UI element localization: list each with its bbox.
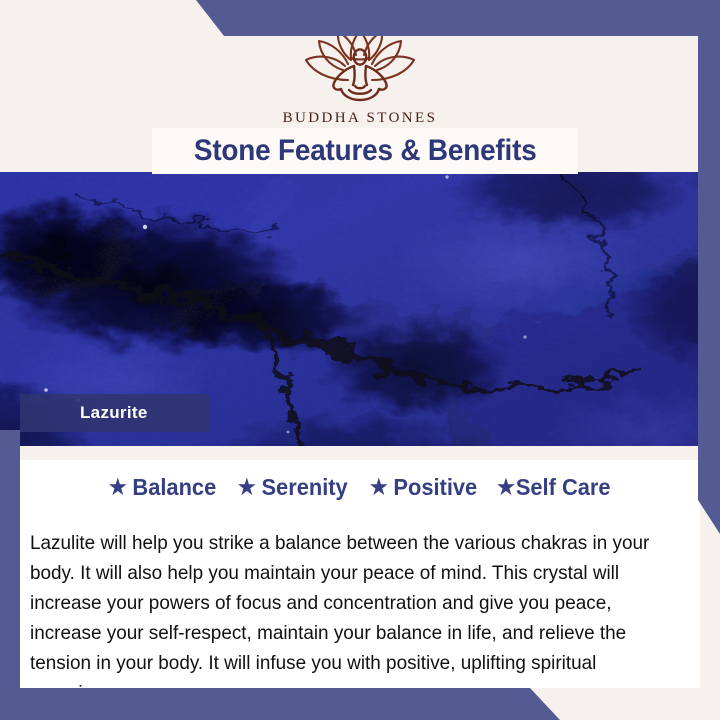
bottom-accent-band — [0, 688, 560, 720]
brand-logo: BUDDHA STONES — [0, 22, 720, 127]
page-title: Stone Features & Benefits — [194, 134, 537, 168]
keyword-balance: ★ Balance — [109, 474, 216, 501]
benefits-description: Lazulite will help you strike a balance … — [30, 528, 674, 708]
stone-info-card: BUDDHA STONES Stone Features & Benefits — [0, 0, 720, 720]
left-accent-strip — [0, 430, 20, 720]
brand-name: BUDDHA STONES — [0, 110, 720, 127]
star-icon: ★ — [370, 477, 388, 498]
star-icon: ★ — [238, 477, 256, 498]
stone-photo: Lazurite — [0, 172, 720, 446]
right-accent-strip — [698, 0, 720, 534]
star-icon: ★ — [109, 477, 127, 498]
panel-top-tint — [20, 446, 700, 460]
keyword-list: ★ Balance ★ Serenity ★ Positive ★ Self C… — [20, 474, 700, 501]
star-icon: ★ — [497, 477, 515, 498]
benefits-panel: ★ Balance ★ Serenity ★ Positive ★ Self C… — [20, 446, 700, 688]
stone-name-badge: Lazurite — [20, 394, 210, 432]
keyword-label: Serenity — [262, 474, 348, 501]
keyword-label: Balance — [133, 474, 217, 501]
keyword-self-care: ★ Self Care — [497, 474, 611, 501]
stone-name: Lazurite — [80, 403, 148, 423]
keyword-serenity: ★ Serenity — [238, 474, 348, 501]
keyword-label: Positive — [393, 474, 477, 501]
keyword-label: Self Care — [516, 474, 611, 501]
title-banner: Stone Features & Benefits — [152, 128, 578, 174]
keyword-positive: ★ Positive — [370, 474, 477, 501]
